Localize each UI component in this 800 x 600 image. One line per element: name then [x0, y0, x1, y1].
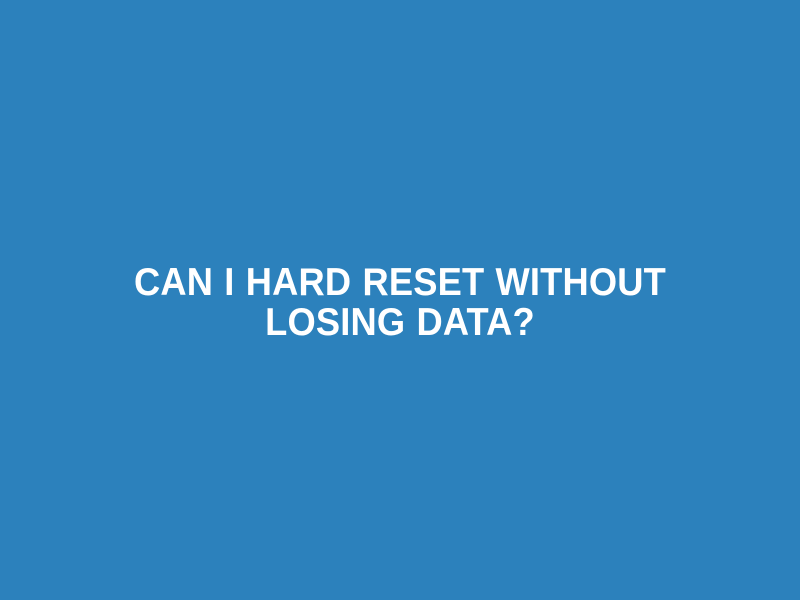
title-block: Can I Hard Reset Without Losing Data?	[80, 263, 720, 343]
page-title: Can I Hard Reset Without Losing Data?	[110, 263, 690, 343]
featured-image-card: Can I Hard Reset Without Losing Data?	[0, 0, 800, 600]
